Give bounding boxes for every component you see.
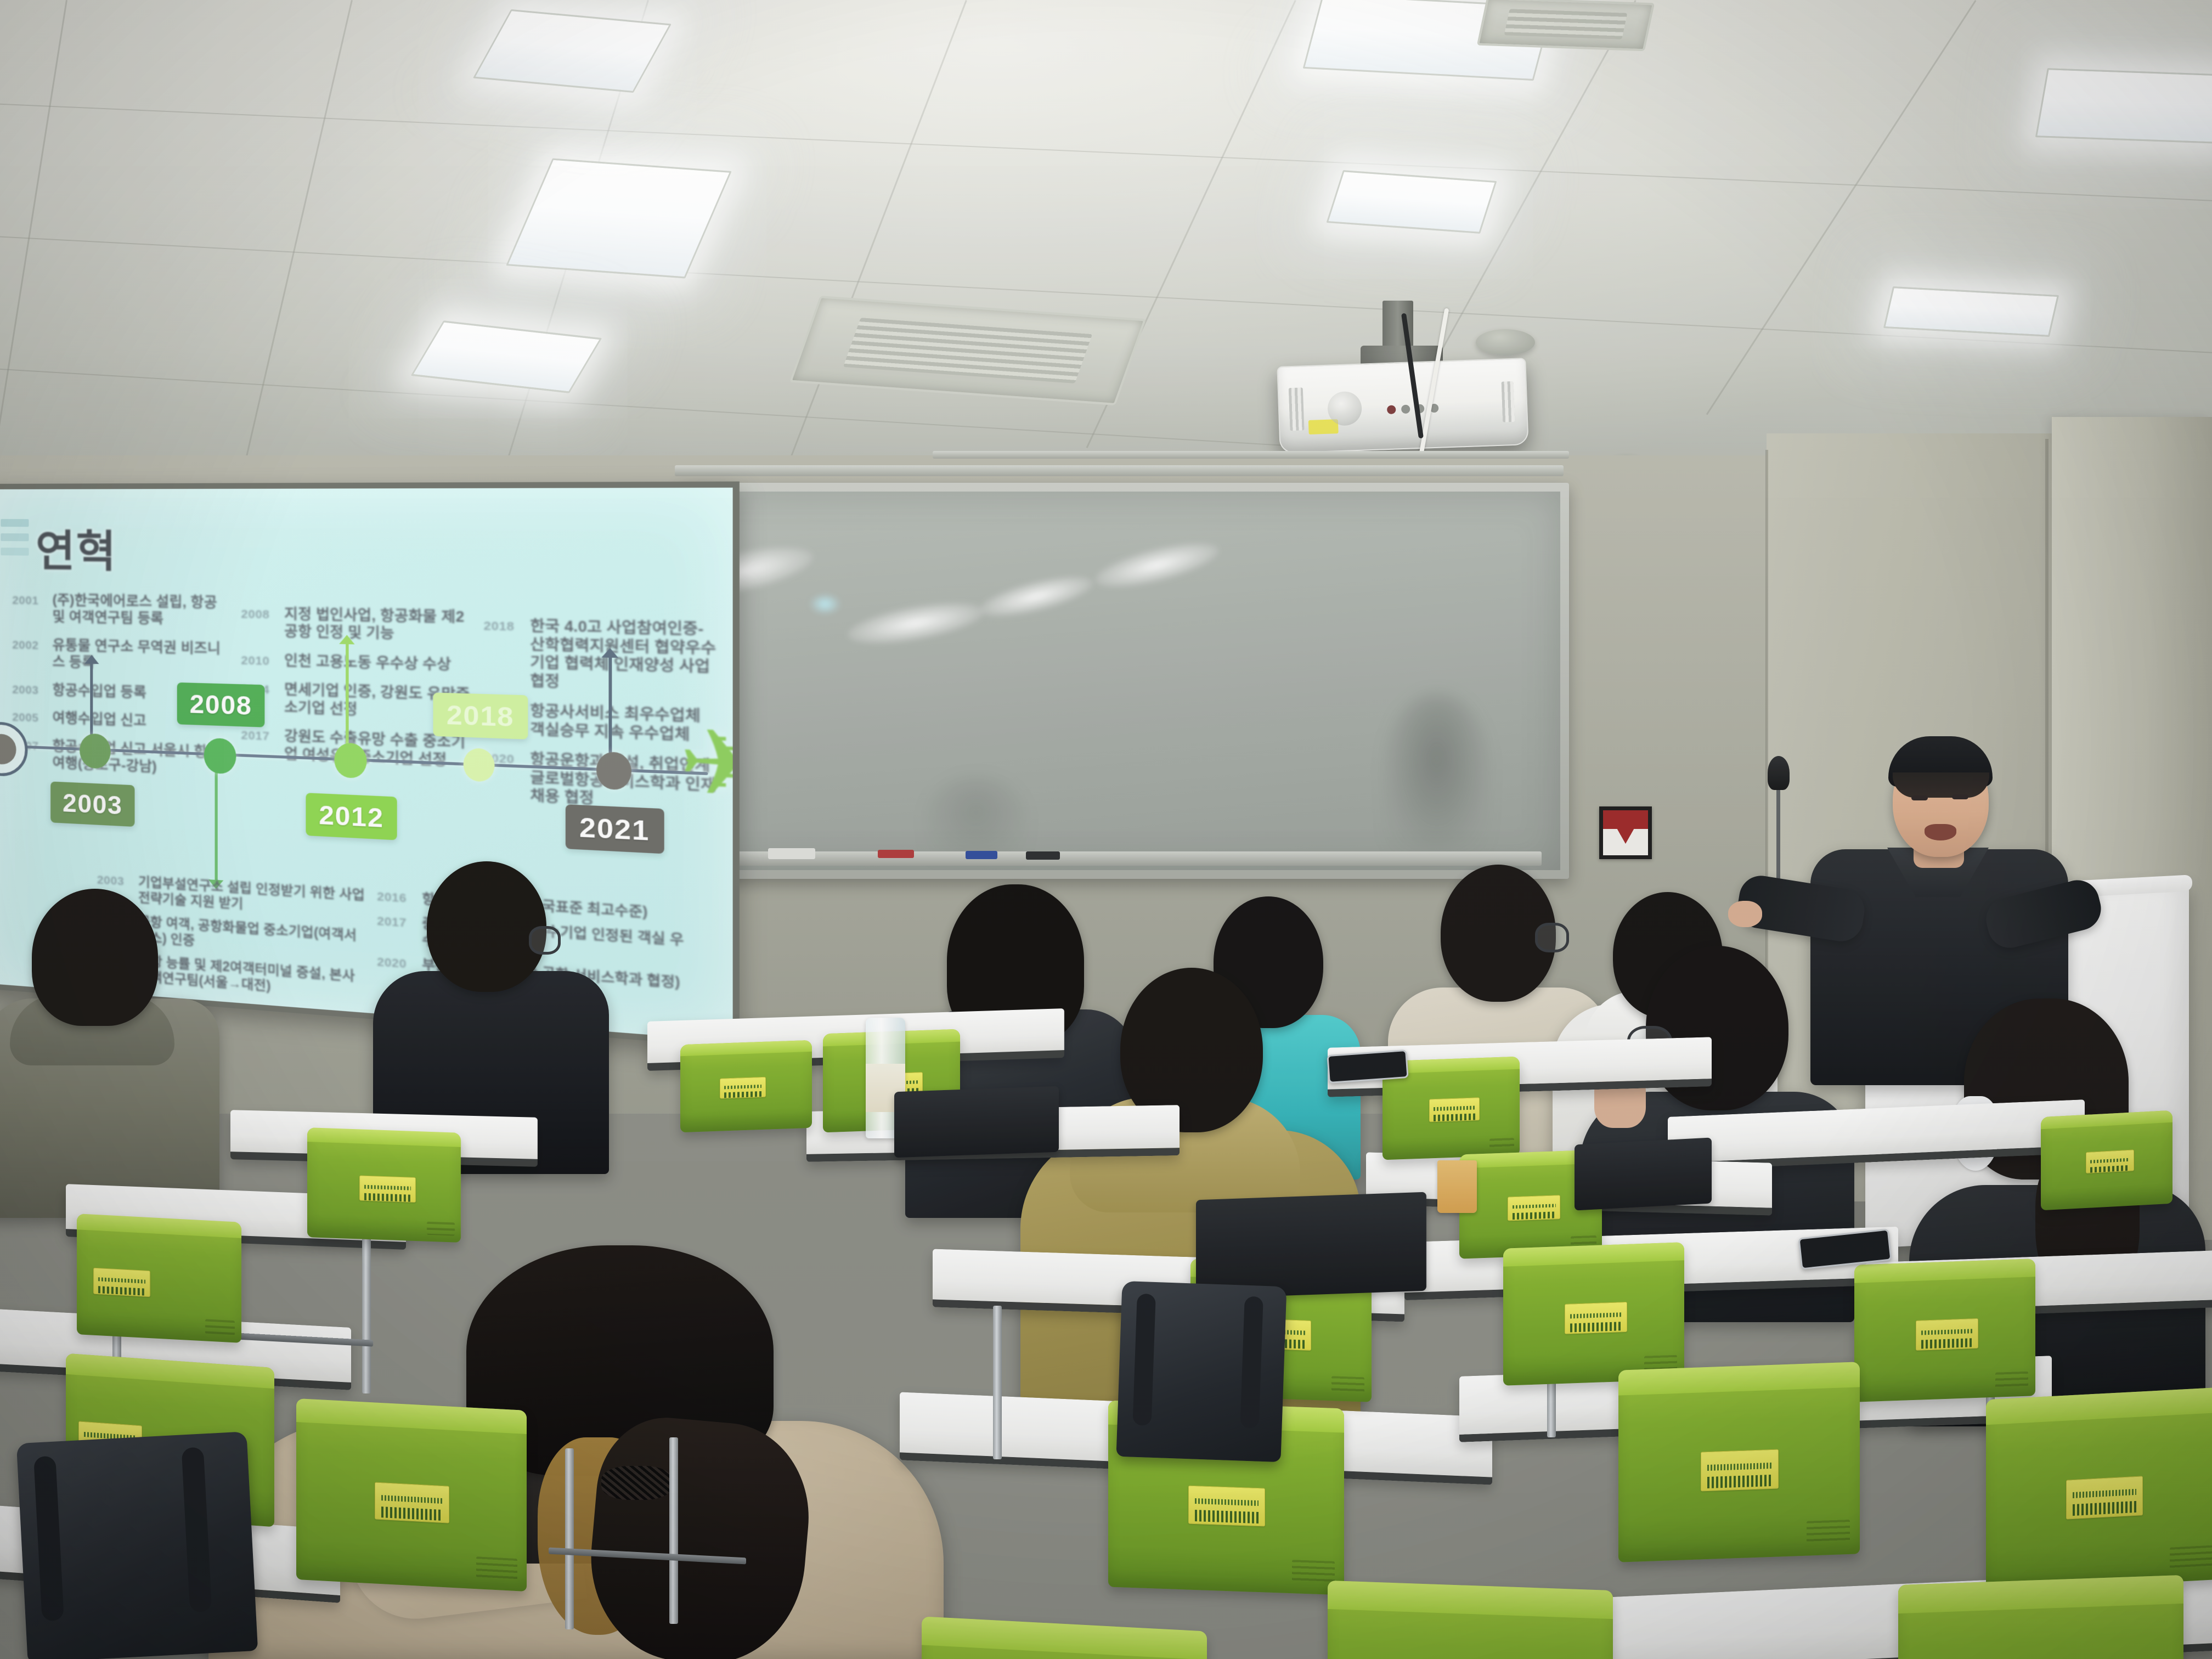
event-text: 한국 4.0고 사업참여인증-산학협력지원센터 협약우수 기업 협력체 인재양성… xyxy=(531,617,716,695)
event-text: 항공수입업 신고 서울시 항공 여행(종로구-강남) xyxy=(53,737,227,778)
smartphone-2[interactable] xyxy=(1327,1049,1408,1084)
hair-tie xyxy=(601,1466,673,1500)
slide-event: 2018한국 4.0고 사업참여인증-산학협력지원센터 협약우수 기업 협력체 … xyxy=(484,616,716,695)
chair[interactable] xyxy=(1503,1242,1684,1386)
desk-leg xyxy=(993,1306,1002,1459)
whiteboard-eraser[interactable] xyxy=(768,848,815,859)
event-year: 2008 xyxy=(241,607,275,622)
hvac-vent-2 xyxy=(1477,0,1655,51)
presenter-hair xyxy=(1893,772,1989,798)
slide-event: 2010인천 고용노동 우수상 수상 xyxy=(241,651,472,674)
ceiling-light-6 xyxy=(1883,286,2059,337)
chair[interactable] xyxy=(1854,1259,2035,1402)
smoke-detector xyxy=(1476,329,1535,356)
event-text: 항공수입업 등록 xyxy=(53,681,146,701)
chair[interactable] xyxy=(1328,1581,1613,1659)
desk-leg xyxy=(362,1223,371,1393)
timeline-stem-2008 xyxy=(215,758,217,881)
marker-blue[interactable] xyxy=(966,851,997,859)
presenter-right-eye xyxy=(1952,794,1968,799)
ceiling-light-5 xyxy=(2035,68,2212,144)
glasses xyxy=(529,926,561,955)
chair-asset-tag xyxy=(720,1077,766,1099)
timeline-badge-2012: 2012 xyxy=(306,793,397,840)
event-year: 2017 xyxy=(241,729,275,743)
whiteboard-top-rail-2 xyxy=(933,451,1569,459)
chair[interactable] xyxy=(2041,1110,2172,1211)
chair-asset-tag xyxy=(1188,1485,1265,1526)
slide-event: 2001(주)한국에어로스 설립, 항공 및 여객연구팀 등록 xyxy=(12,591,227,629)
attendee-black-jacket-left xyxy=(0,872,241,1212)
event-text: 지정 법인사업, 항공화물 제2공항 인정 및 기능 xyxy=(284,605,472,644)
event-year: 2001 xyxy=(12,594,43,607)
chair-asset-tag xyxy=(1429,1097,1480,1122)
event-text: (주)한국에어로스 설립, 항공 및 여객연구팀 등록 xyxy=(53,591,227,629)
slide-event: 2008지정 법인사업, 항공화물 제2공항 인정 및 기능 xyxy=(241,605,472,644)
chair[interactable] xyxy=(1986,1387,2212,1592)
event-year: 2002 xyxy=(12,639,43,652)
slide-accent-marks xyxy=(1,519,29,527)
slide-event: 2007항공수입업 신고 서울시 항공 여행(종로구-강남) xyxy=(12,736,227,778)
laptop-bag-2 xyxy=(894,1086,1059,1158)
head xyxy=(32,889,158,1026)
chair[interactable] xyxy=(77,1214,241,1343)
ceiling xyxy=(0,0,2212,483)
chair-asset-tag xyxy=(2086,1149,2134,1173)
chair[interactable] xyxy=(1898,1575,2183,1659)
chair-asset-tag xyxy=(93,1268,150,1297)
event-text: 여행수입업 신고 xyxy=(53,709,146,730)
marker-black[interactable] xyxy=(1026,851,1060,860)
chair[interactable] xyxy=(1618,1362,1860,1562)
event-year: 2018 xyxy=(484,619,520,634)
timeline-badge-2003: 2003 xyxy=(50,781,135,827)
event-year: 2003 xyxy=(12,683,43,697)
event-text: 인천 고용노동 우수상 수상 xyxy=(284,652,451,674)
chair-asset-tag xyxy=(1508,1195,1560,1221)
event-year: 2005 xyxy=(12,711,43,725)
tablet-case xyxy=(1575,1137,1712,1210)
ceiling-projector xyxy=(1277,358,1528,454)
chair-asset-tag xyxy=(1565,1302,1627,1334)
chair-asset-tag xyxy=(375,1482,449,1523)
ponytail xyxy=(583,1412,817,1659)
coffee-cup[interactable] xyxy=(1437,1160,1477,1213)
timeline-badge-2008: 2008 xyxy=(177,682,265,727)
whiteboard xyxy=(688,492,1560,870)
chair-asset-tag xyxy=(2066,1476,2143,1519)
head xyxy=(427,861,546,992)
event-year: 2010 xyxy=(241,653,275,668)
event-text: 유통물 연구소 무역권 비즈니스 등록 xyxy=(53,636,227,675)
presenter-mouth xyxy=(1925,824,1956,840)
slide-event: 2002유통물 연구소 무역권 비즈니스 등록 xyxy=(12,636,227,675)
whiteboard-top-rail xyxy=(675,465,1564,476)
chair[interactable] xyxy=(296,1398,527,1592)
timeline-badge-2021: 2021 xyxy=(565,804,664,854)
whiteboard-frame xyxy=(679,483,1569,879)
airplane-icon: ✈ xyxy=(679,716,733,811)
desk-leg xyxy=(565,1448,574,1629)
chair[interactable] xyxy=(307,1127,461,1243)
backpack-black xyxy=(16,1431,258,1659)
classroom-photo-scene: 연혁 2001(주)한국에어로스 설립, 항공 및 여객연구팀 등록 2002유… xyxy=(0,0,2212,1659)
timeline-badge-2018: 2018 xyxy=(433,692,528,739)
slide-title: 연혁 xyxy=(36,517,117,580)
chair[interactable] xyxy=(922,1616,1207,1659)
chair-asset-tag xyxy=(1916,1318,1978,1350)
ceiling-light-4 xyxy=(1327,170,1497,234)
presenter-left-eye xyxy=(1911,795,1928,800)
chair[interactable] xyxy=(680,1040,812,1132)
backpack-olive-chair xyxy=(1116,1281,1287,1462)
marker-red[interactable] xyxy=(878,850,914,858)
desk-leg xyxy=(669,1437,678,1624)
chair-asset-tag xyxy=(1701,1449,1779,1491)
laptop-bag xyxy=(1196,1192,1426,1299)
chair-asset-tag xyxy=(359,1175,416,1203)
